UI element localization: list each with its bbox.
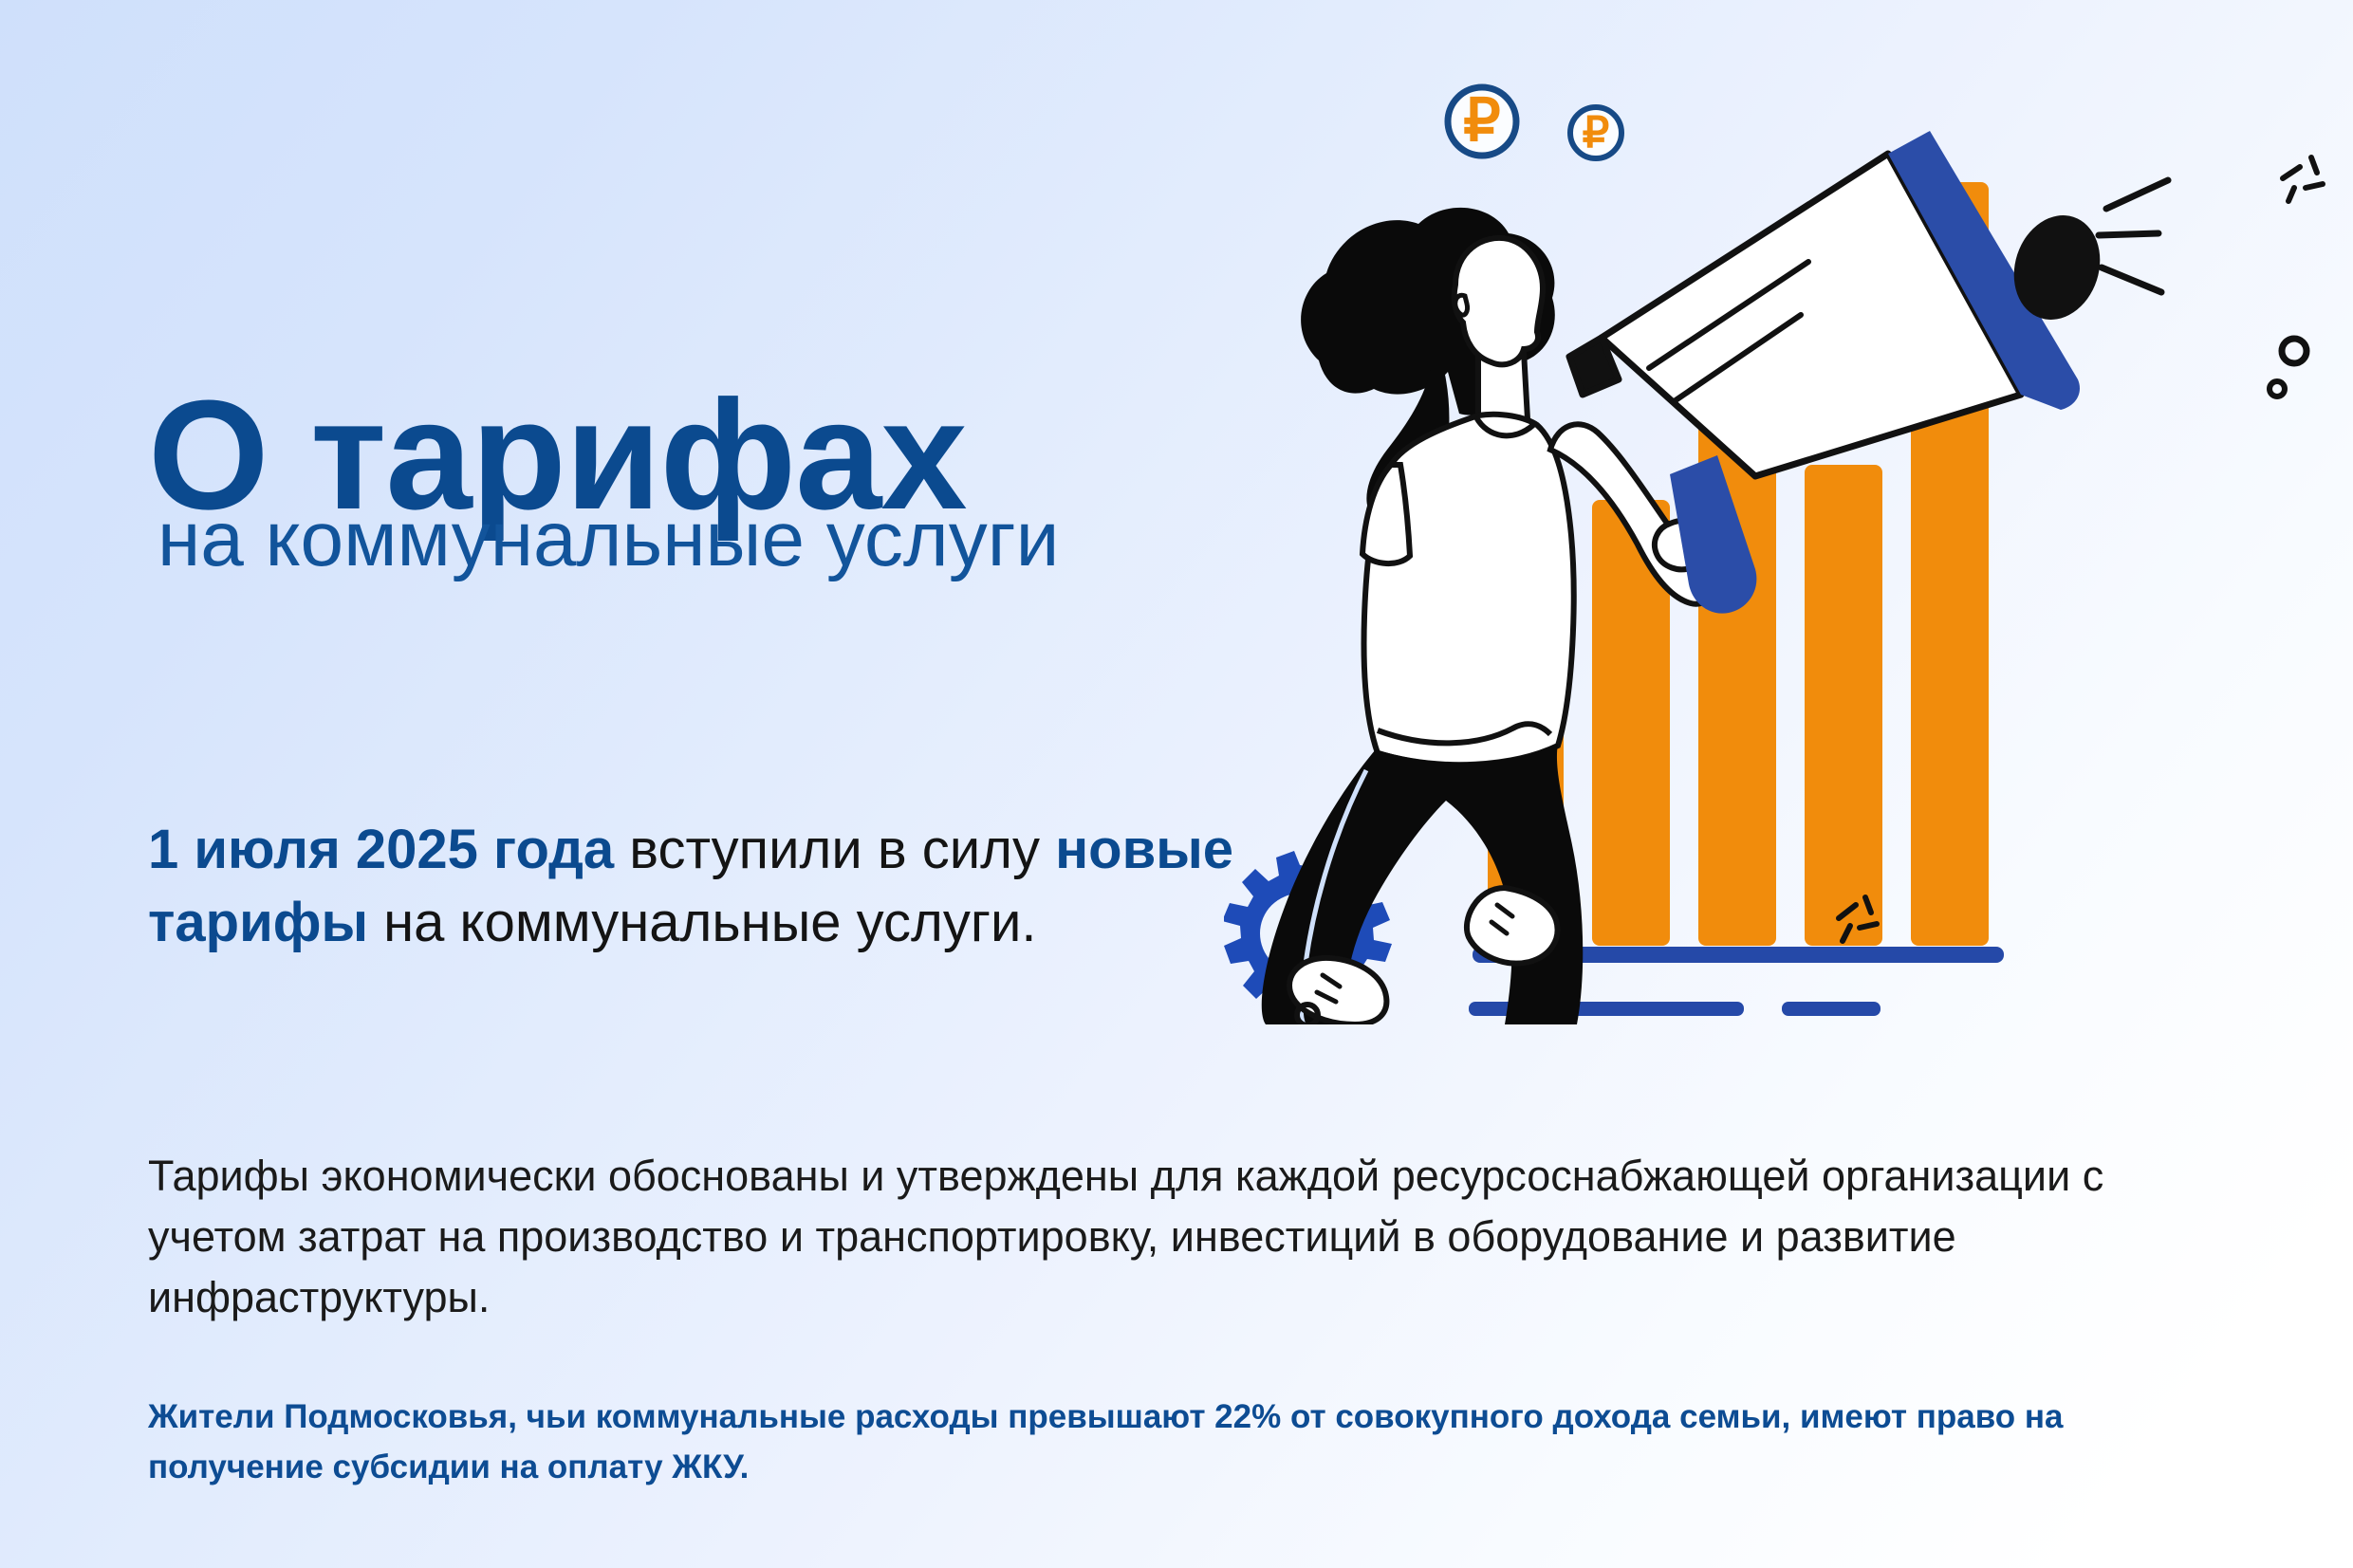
sparkle-icon-right bbox=[2283, 157, 2323, 201]
decor-circle-small bbox=[2270, 381, 2285, 397]
sound-lines bbox=[2099, 180, 2168, 292]
decor-circle-large bbox=[2282, 339, 2307, 363]
ruble-coin-large: ₽ bbox=[1448, 87, 1516, 156]
illustration-canvas: ₽ ₽ bbox=[1224, 66, 2353, 1024]
bar-4 bbox=[1805, 465, 1882, 946]
sleeve-left bbox=[1362, 465, 1410, 563]
page-subtitle: на коммунальные услуги bbox=[157, 501, 1059, 579]
footer-note: Жители Подмосковья, чьи коммунальные рас… bbox=[148, 1392, 2188, 1492]
lead-paragraph: 1 июля 2025 года вступили в силу новые т… bbox=[148, 814, 1249, 959]
lead-tail-text: на коммунальные услуги. bbox=[368, 892, 1037, 953]
lead-middle-text: вступили в силу bbox=[614, 819, 1040, 880]
body-paragraph: Тарифы экономически обоснованы и утвержд… bbox=[148, 1146, 2169, 1328]
illustration: ₽ ₽ bbox=[1224, 66, 2353, 1024]
ruble-coin-small: ₽ bbox=[1570, 107, 1621, 158]
ruble-symbol-small: ₽ bbox=[1583, 108, 1610, 157]
dash-short-1 bbox=[1782, 1002, 1881, 1016]
ruble-symbol-large: ₽ bbox=[1463, 88, 1500, 154]
ear bbox=[1455, 295, 1468, 315]
lead-highlight-date: 1 июля 2025 года bbox=[148, 819, 614, 880]
poster-root: О тарифах на коммунальные услуги 1 июля … bbox=[0, 0, 2353, 1568]
